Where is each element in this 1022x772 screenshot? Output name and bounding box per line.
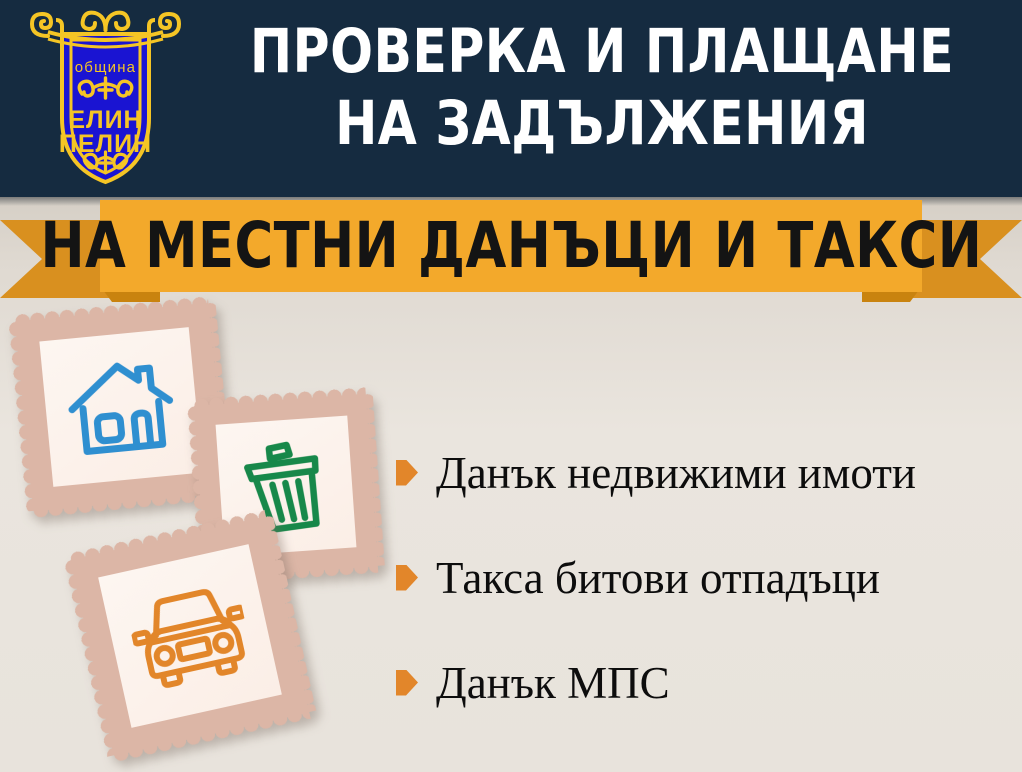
arrow-bullet-icon [396, 460, 418, 486]
stamp-scallop-right [360, 394, 385, 566]
page-title-line-1: ПРОВЕРКА И ПЛАЩАНЕ [228, 16, 975, 88]
list-item[interactable]: Такса битови отпадъци [396, 525, 1016, 630]
list-item-label: Данък МПС [436, 658, 670, 708]
stamp-group [0, 296, 420, 772]
stamp-paper [39, 327, 202, 487]
stamp-scallop-left [8, 321, 39, 511]
list-item-label: Такса битови отпадъци [436, 553, 880, 603]
car-front-icon [124, 579, 255, 693]
municipality-logo: община ЕЛИН ПЕЛИН [18, 6, 193, 188]
header-title-block: ПРОВЕРКА И ПЛАЩАНЕ НА ЗАДЪЛЖЕНИЯ [196, 16, 1008, 160]
ribbon-band: НА МЕСТНИ ДАНЪЦИ И ТАКСИ [100, 200, 922, 292]
ribbon-label: НА МЕСТНИ ДАНЪЦИ И ТАКСИ [40, 213, 982, 279]
list-item[interactable]: Данък недвижими имоти [396, 420, 1016, 525]
svg-text:община: община [75, 59, 136, 76]
header-bar: община ЕЛИН ПЕЛИН [0, 0, 1022, 197]
arrow-bullet-icon [396, 565, 418, 591]
list-item-label: Данък недвижими имоти [436, 448, 916, 498]
stamp-card-vehicle [71, 517, 310, 756]
poster-canvas: община ЕЛИН ПЕЛИН [0, 0, 1022, 772]
ribbon-banner: НА МЕСТНИ ДАНЪЦИ И ТАКСИ [0, 200, 1022, 302]
arrow-bullet-icon [396, 670, 418, 696]
list-item[interactable]: Данък МПС [396, 630, 1016, 735]
obligations-list: Данък недвижими имоти Такса битови отпад… [396, 420, 1016, 735]
page-title-line-2: НА ЗАДЪЛЖЕНИЯ [228, 88, 975, 160]
stamp-paper [98, 544, 282, 728]
house-icon [63, 353, 180, 461]
